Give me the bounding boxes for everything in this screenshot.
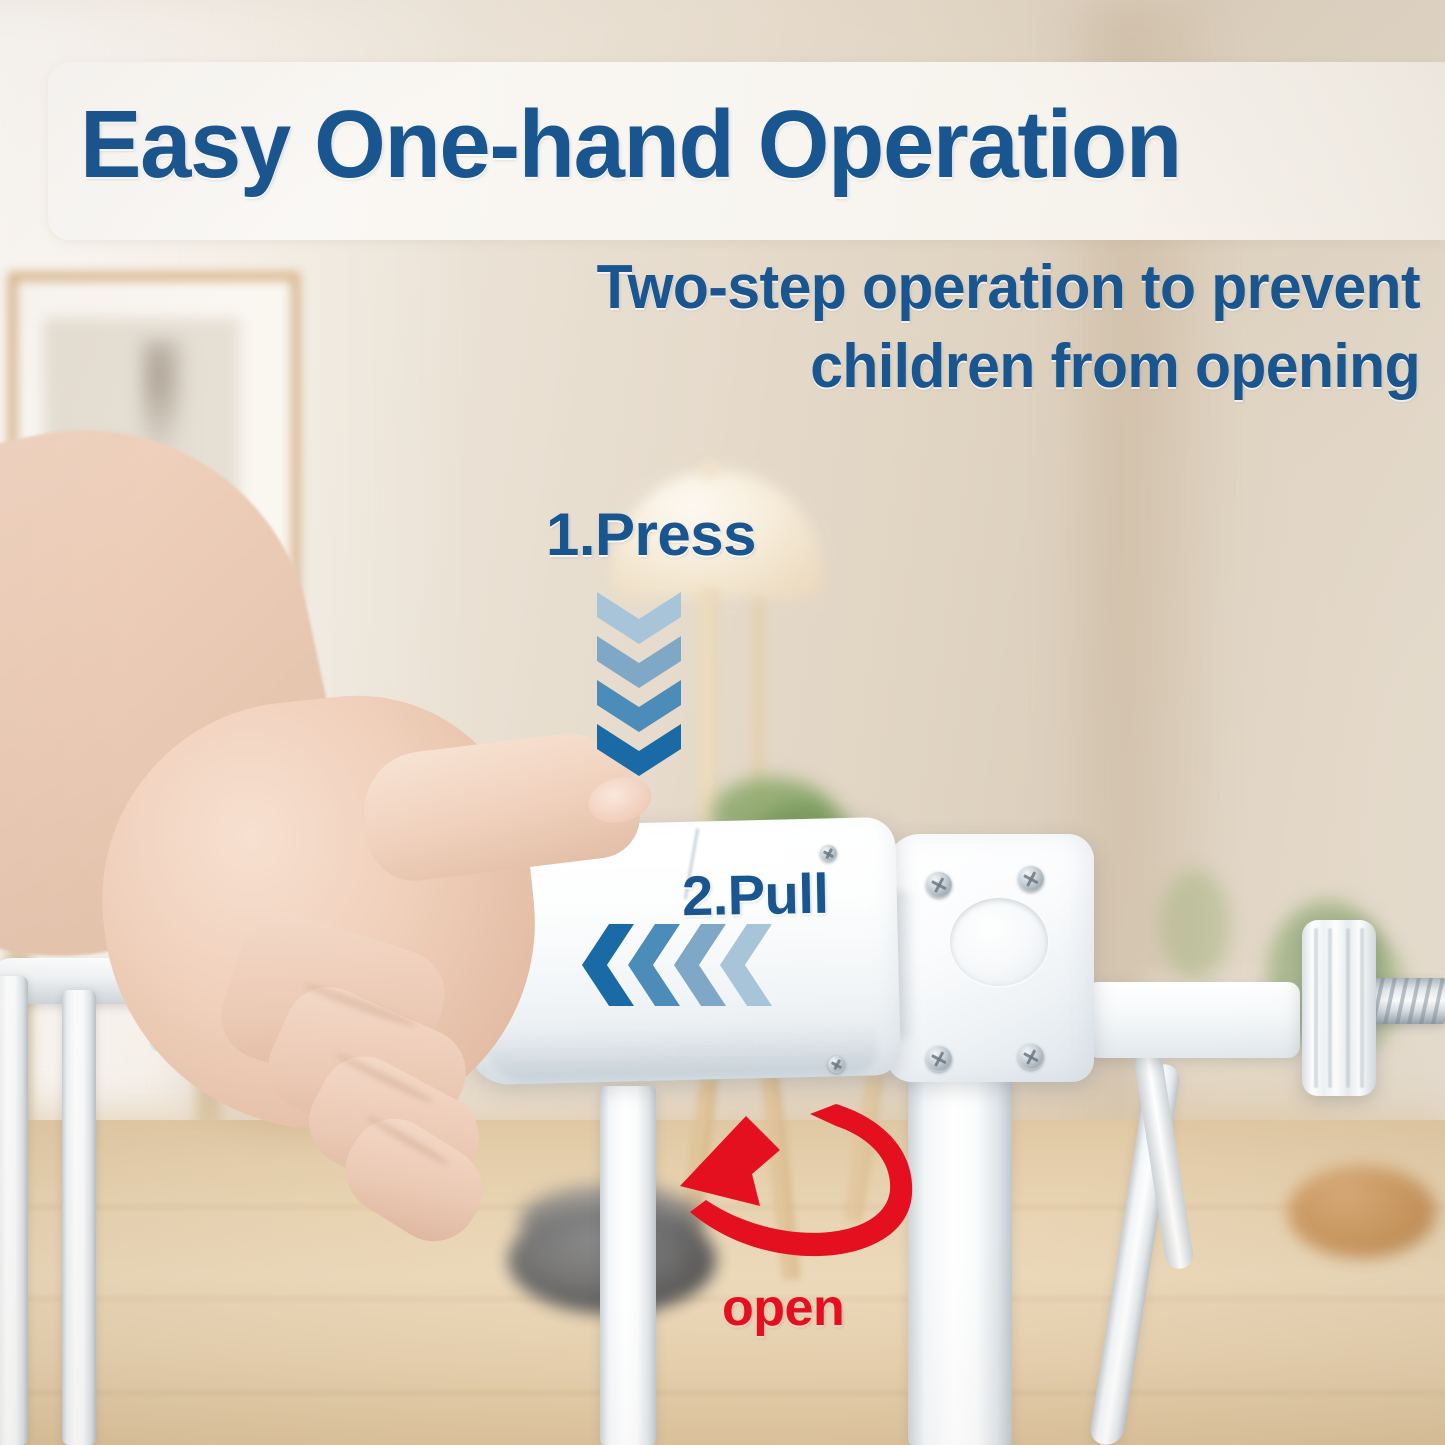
open-label: open — [722, 1278, 844, 1338]
step-pull-label: 2.Pull — [681, 861, 829, 929]
curved-arrow-left-icon — [640, 1090, 950, 1310]
step-press-label: 1.Press — [546, 500, 756, 569]
page-title: Easy One-hand Operation — [80, 94, 1366, 196]
subtitle: Two-step operation to prevent children f… — [470, 248, 1420, 407]
product-feature-image: 1.Press 2.Pull open Easy One-hand Operat… — [0, 0, 1445, 1445]
subtitle-line-2: children from opening — [470, 327, 1420, 406]
subtitle-line-1: Two-step operation to prevent — [470, 248, 1420, 327]
